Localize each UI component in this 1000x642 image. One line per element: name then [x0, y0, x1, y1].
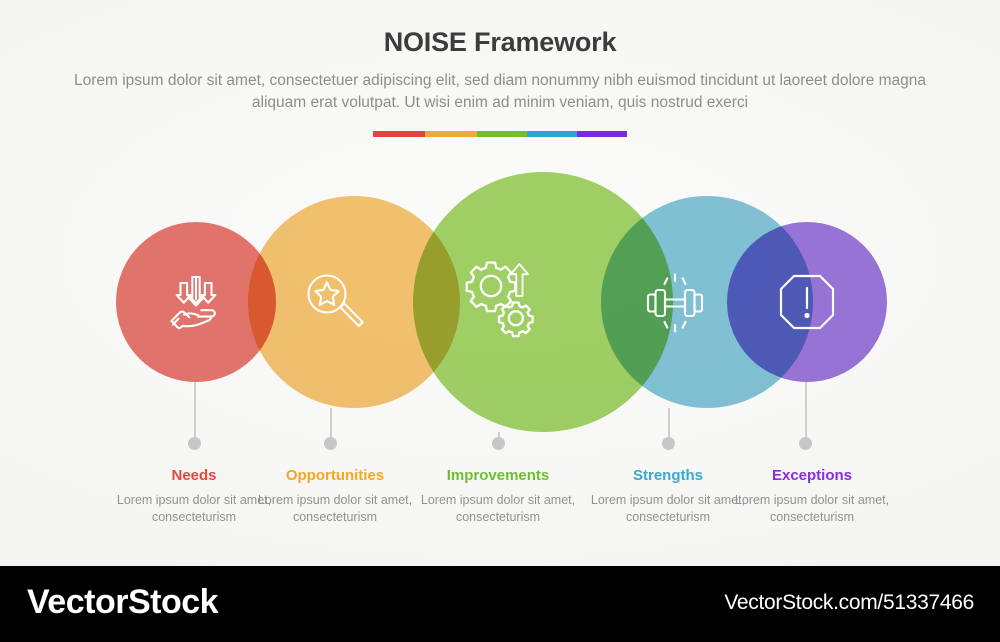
connector-line-opportunities [330, 408, 332, 439]
circle-exceptions[interactable] [727, 222, 887, 382]
connector-line-exceptions [805, 382, 807, 439]
connector-dot-exceptions [799, 437, 812, 450]
item-description-opportunities: Lorem ipsum dolor sit amet, consecteturi… [245, 492, 425, 526]
watermark-bar: VectorStock VectorStock.com/51337466 [0, 566, 1000, 642]
infographic-slide: NOISE Framework Lorem ipsum dolor sit am… [0, 0, 1000, 642]
connector-line-strengths [668, 408, 670, 439]
slide-canvas: NOISE Framework Lorem ipsum dolor sit am… [0, 0, 1000, 566]
connector-dot-needs [188, 437, 201, 450]
item-label-exceptions[interactable]: Exceptions [722, 467, 902, 484]
connector-dot-opportunities [324, 437, 337, 450]
vectorstock-logo: VectorStock [27, 583, 218, 622]
item-label-improvements[interactable]: Improvements [408, 467, 588, 484]
connector-dot-improvements [492, 437, 505, 450]
item-description-exceptions: Lorem ipsum dolor sit amet, consecteturi… [722, 492, 902, 526]
connector-line-needs [194, 382, 196, 439]
item-label-opportunities[interactable]: Opportunities [245, 467, 425, 484]
connector-dot-strengths [662, 437, 675, 450]
item-description-improvements: Lorem ipsum dolor sit amet, consecteturi… [408, 492, 588, 526]
vectorstock-url: VectorStock.com/51337466 [724, 591, 974, 615]
